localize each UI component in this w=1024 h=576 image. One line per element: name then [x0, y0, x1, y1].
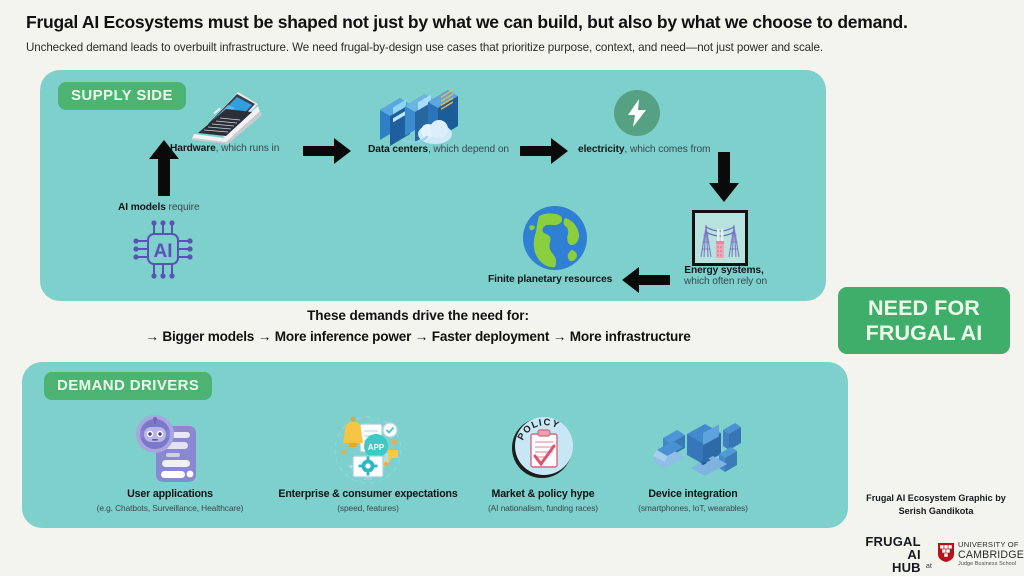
server-rack-icon: [372, 84, 460, 151]
lightning-bolt-icon: [614, 90, 660, 136]
driver-user-applications: User applications (e.g. Chatbots, Survei…: [70, 412, 270, 513]
need-line-2: FRUGAL AI: [866, 321, 983, 345]
arrow-right-datacenters-to-electricity: [520, 138, 568, 164]
driver-subtitle: (speed, features): [268, 503, 468, 513]
ai-chip-icon: AI: [130, 218, 196, 287]
driver-device-integration: Device integration (smartphones, IoT, we…: [593, 412, 793, 513]
flow-label-hardware: Hardware, which runs in: [170, 143, 279, 154]
flow-label-electricity: electricity, which comes from: [578, 144, 710, 155]
arrow-left-energy-to-resources: [622, 267, 670, 293]
app-settings-icon: APP: [268, 412, 468, 486]
flow-label-ai-models: AI models require: [118, 202, 200, 213]
driver-subtitle: (smartphones, IoT, wearables): [593, 503, 793, 513]
logo-connector-at: at: [926, 561, 932, 574]
credit-block: Frugal AI Ecosystem Graphic by Serish Ga…: [852, 492, 1020, 517]
page-title: Frugal AI Ecosystems must be shaped not …: [26, 12, 998, 34]
page-header: Frugal AI Ecosystems must be shaped not …: [0, 0, 1024, 54]
multi-device-icon: [593, 412, 793, 486]
driver-title: Enterprise & consumer expectations: [268, 488, 468, 500]
svg-text:AI: AI: [154, 241, 173, 262]
driver-subtitle: (e.g. Chatbots, Surveillance, Healthcare…: [70, 503, 270, 513]
middle-line-1: These demands drive the need for:: [0, 308, 836, 323]
demand-drivers-badge: DEMAND DRIVERS: [44, 372, 212, 400]
driver-title: User applications: [70, 488, 270, 500]
arrow-down-electricity-to-energy: [708, 152, 740, 202]
logo-row: FRUGAL AI HUB at UNIVERSITY OF CAMBRIDGE…: [854, 535, 1024, 574]
cambridge-logo: UNIVERSITY OF CAMBRIDGE Judge Business S…: [937, 541, 1024, 567]
chatbot-icon: [70, 412, 270, 486]
credit-line-1: Frugal AI Ecosystem Graphic by: [852, 492, 1020, 505]
credit-line-2: Serish Gandikota: [852, 505, 1020, 518]
arrow-right-hardware-to-datacenters: [303, 138, 351, 164]
svg-text:APP: APP: [368, 443, 385, 452]
driver-enterprise-expectations: APP Enterprise & consumer expectations (…: [268, 412, 468, 513]
flow-label-data-centers: Data centers, which depend on: [368, 144, 509, 155]
cambridge-line-2: CAMBRIDGE: [958, 550, 1024, 561]
supply-side-badge: SUPPLY SIDE: [58, 82, 186, 110]
laptop-icon: [188, 86, 264, 149]
frugal-logo-line-1: FRUGAL AI: [854, 535, 921, 561]
frugal-ai-hub-logo: FRUGAL AI HUB: [854, 535, 921, 574]
power-grid-icon: [692, 210, 748, 266]
middle-summary-text: These demands drive the need for: → Bigg…: [0, 308, 836, 344]
page-subtitle: Unchecked demand leads to overbuilt infr…: [26, 41, 998, 54]
globe-icon: [519, 204, 591, 277]
cambridge-line-3: Judge Business School: [958, 561, 1024, 567]
cambridge-shield-icon: [937, 542, 955, 568]
frugal-logo-line-2: HUB: [854, 561, 921, 574]
driver-title: Device integration: [593, 488, 793, 500]
need-for-frugal-ai-callout: NEED FOR FRUGAL AI: [838, 287, 1010, 354]
middle-line-2: → Bigger models → More inference power →…: [0, 329, 836, 344]
flow-label-energy-systems: Energy systems, which often rely on: [684, 265, 764, 287]
flow-label-finite-resources: Finite planetary resources: [488, 274, 612, 285]
need-line-1: NEED FOR: [868, 296, 980, 320]
